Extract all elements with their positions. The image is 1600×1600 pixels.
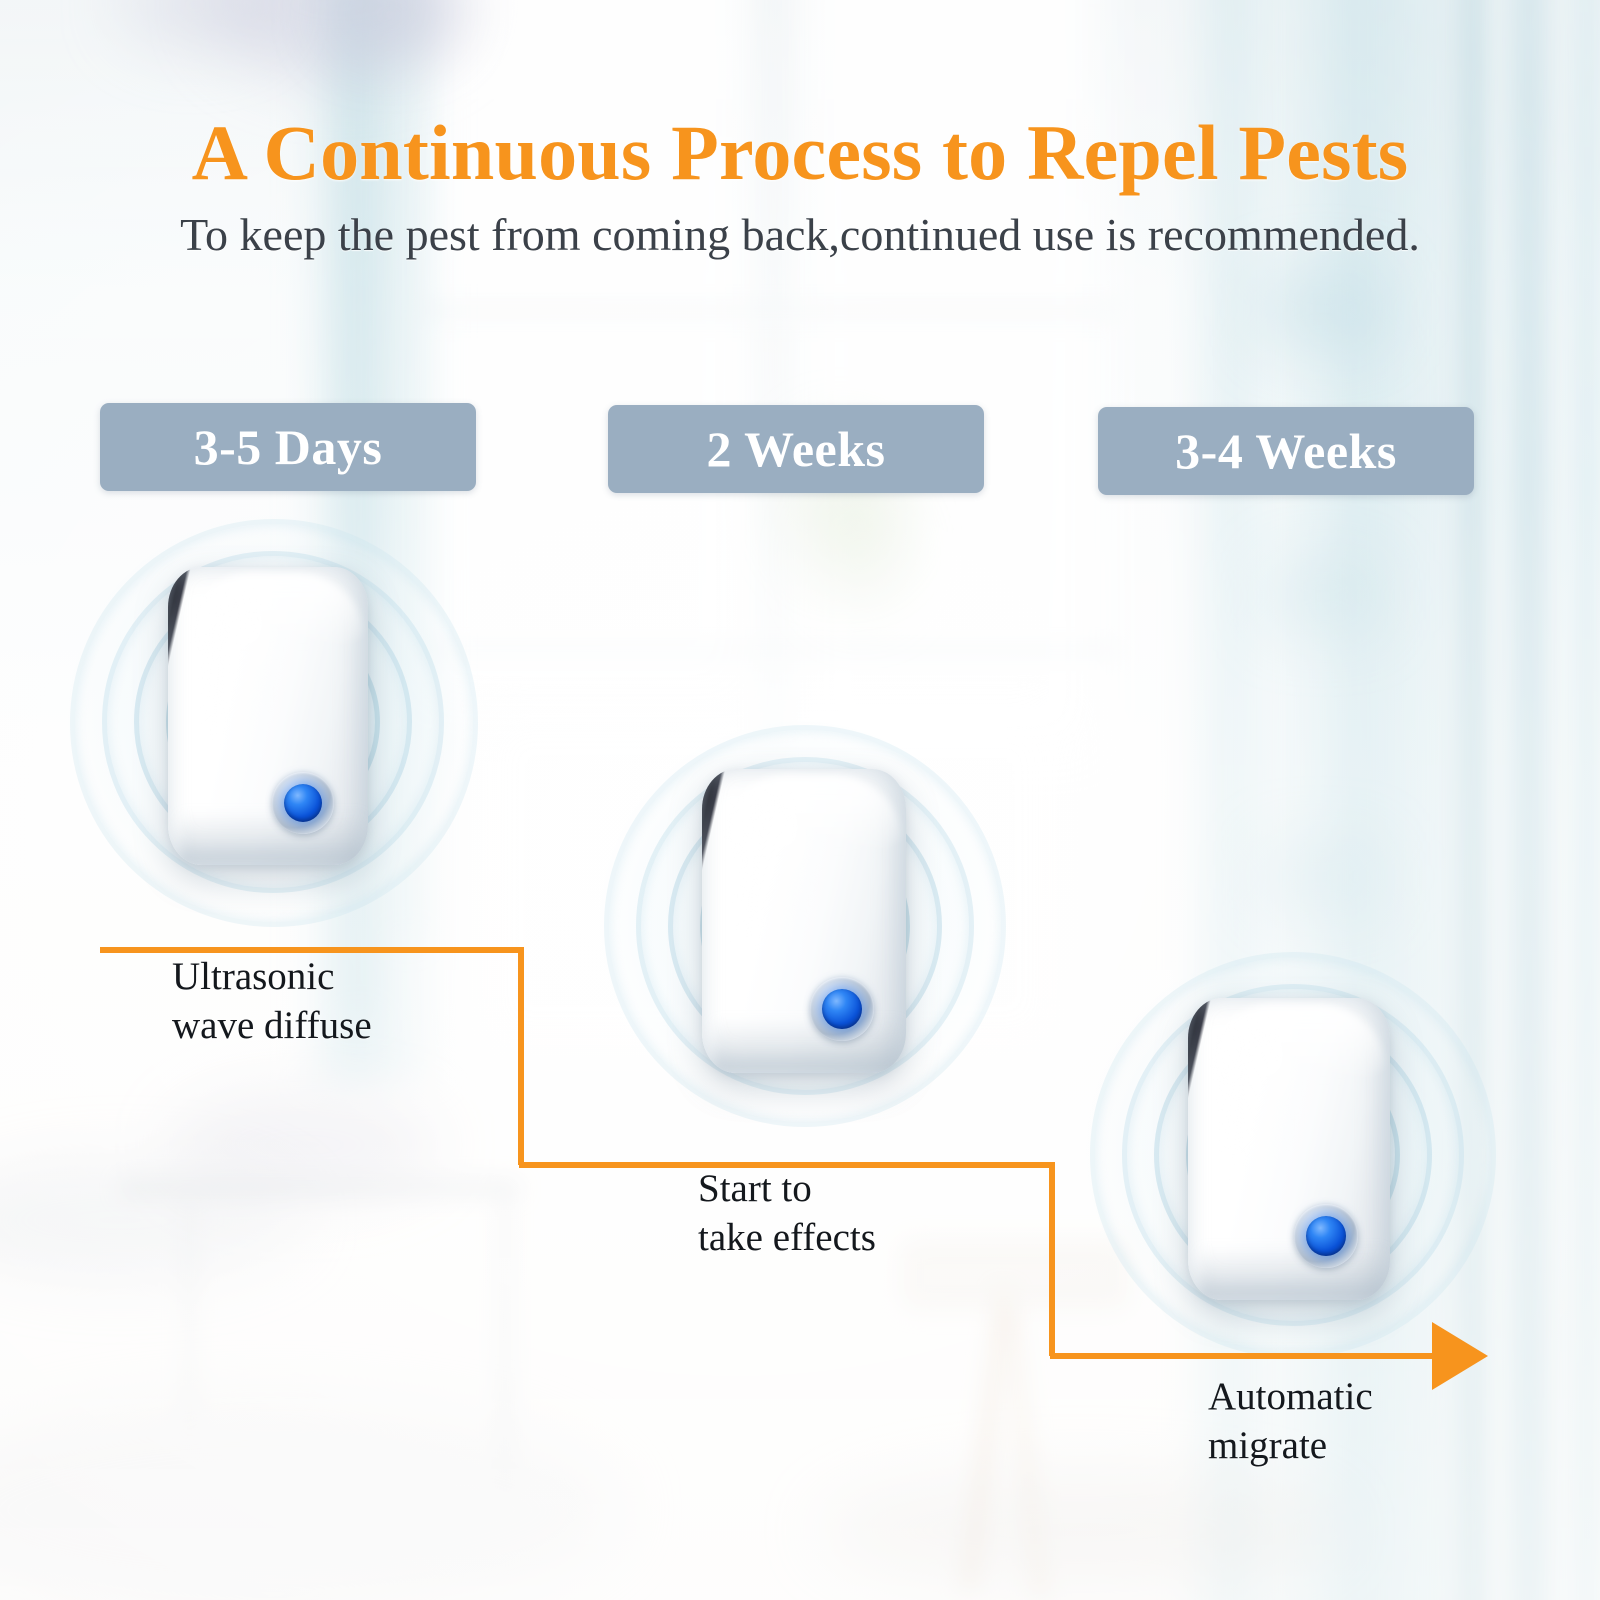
stage-badge-3-label: 3-4 Weeks [1175, 422, 1397, 480]
stage-caption-3-line2: migrate [1208, 1421, 1373, 1470]
device-group-3 [1078, 940, 1498, 1360]
stage-badge-2: 2 Weeks [608, 405, 984, 493]
stage-caption-2: Start to take effects [698, 1164, 876, 1262]
stage-caption-1-line2: wave diffuse [172, 1001, 372, 1050]
page-subtitle: To keep the pest from coming back,contin… [0, 208, 1600, 261]
device-shadow [714, 1018, 902, 1073]
ultrasonic-pest-repeller-3 [1188, 998, 1390, 1300]
stage-badge-2-label: 2 Weeks [707, 420, 886, 478]
infographic-canvas: A Continuous Process to Repel Pests To k… [0, 0, 1600, 1600]
stage-badge-1: 3-5 Days [100, 403, 476, 491]
stage-badge-3: 3-4 Weeks [1098, 407, 1474, 495]
stage-caption-3-line1: Automatic [1208, 1372, 1373, 1421]
led-core [822, 989, 862, 1029]
device-sheen [735, 793, 813, 981]
device-sheen [1220, 1022, 1297, 1209]
led-core [284, 784, 322, 822]
device-shadow [1200, 1246, 1386, 1300]
ultrasonic-pest-repeller-2 [702, 769, 906, 1073]
device-group-2 [592, 713, 1008, 1129]
stage-caption-1-line1: Ultrasonic [172, 952, 372, 1001]
stage-caption-1: Ultrasonic wave diffuse [172, 952, 372, 1050]
led-indicator-2 [810, 977, 874, 1041]
ultrasonic-pest-repeller-1 [168, 567, 368, 865]
stage-caption-2-line1: Start to [698, 1164, 876, 1213]
led-indicator-3 [1294, 1204, 1358, 1268]
stage-caption-2-line2: take effects [698, 1213, 876, 1262]
led-indicator-1 [272, 772, 334, 834]
stage-badge-1-label: 3-5 Days [194, 418, 383, 476]
led-core [1306, 1216, 1346, 1256]
device-shadow [180, 811, 364, 865]
stage-caption-3: Automatic migrate [1208, 1372, 1373, 1470]
device-sheen [200, 591, 276, 776]
page-title: A Continuous Process to Repel Pests [0, 108, 1600, 198]
device-group-1 [60, 505, 480, 935]
